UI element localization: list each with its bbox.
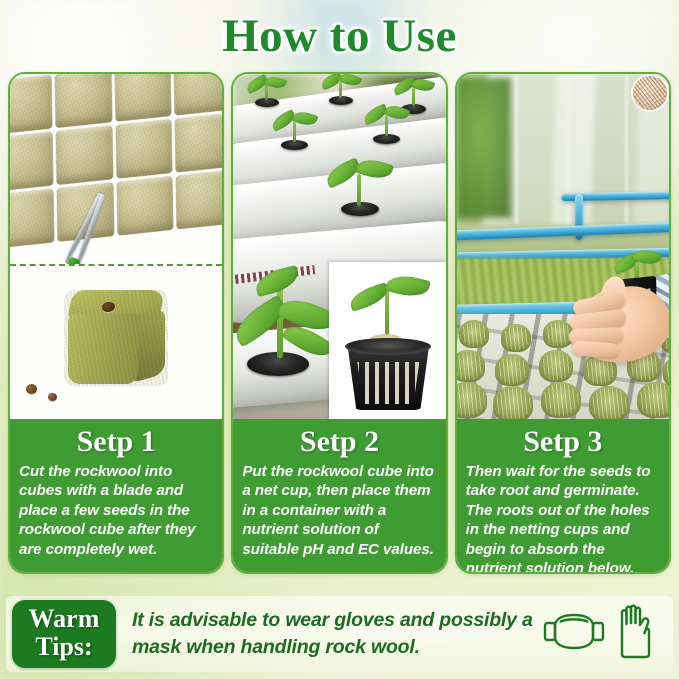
seedling-stem: [293, 122, 296, 142]
step-2-body: Put the rockwool cube into a net cup, th…: [242, 462, 436, 559]
rockwool-cube: [174, 74, 223, 116]
rockwool-cube: [114, 74, 172, 122]
step-2-title: Setp 2: [242, 424, 436, 460]
lettuce-seedling: [459, 320, 489, 348]
step-2-photo: [233, 74, 445, 419]
rockwool-cube: [115, 119, 173, 179]
infographic-page: How to Use: [0, 0, 679, 679]
hand-holding-net-cup: [553, 274, 669, 406]
step-1-body: Cut the rockwool into cubes with a blade…: [19, 462, 213, 559]
rockwool-cube: [116, 176, 174, 236]
rockwool-cube: [10, 131, 53, 191]
net-cup-inset-photo: [329, 262, 445, 419]
page-header: How to Use: [0, 8, 679, 66]
lettuce-seedling: [501, 324, 531, 352]
seedling-stem: [385, 116, 388, 136]
seedling-stem: [265, 84, 268, 100]
seedling-stem: [412, 88, 415, 106]
lettuce-seedling: [493, 386, 533, 419]
wet-rockwool-cube: [64, 290, 168, 386]
seedling-stem: [339, 82, 342, 98]
greenhouse-photo: [457, 74, 669, 419]
step-card-2: Setp 2 Put the rockwool cube into a net …: [231, 72, 447, 574]
seedling-stem: [357, 174, 361, 206]
glove-icon: [615, 604, 657, 665]
finger: [571, 340, 619, 358]
hydroponic-pipes-photo: [233, 74, 445, 419]
step-2-panel: Setp 2 Put the rockwool cube into a net …: [233, 419, 445, 572]
rockwool-cube-tray-photo: [10, 74, 222, 264]
lettuce-seedling: [495, 354, 529, 386]
seed: [26, 384, 37, 394]
warm-tips-badge-line-1: Warm: [16, 605, 112, 633]
steps-container: Setp 1 Cut the rockwool into cubes with …: [8, 72, 671, 574]
step-1-panel: Setp 1 Cut the rockwool into cubes with …: [10, 419, 222, 572]
warm-tips-text: It is advisable to wear gloves and possi…: [116, 607, 543, 661]
net-cup-rim: [345, 338, 431, 355]
rockwool-cube: [10, 188, 54, 248]
warm-tips-badge: Warm Tips:: [12, 600, 116, 668]
lettuce-seedling: [457, 350, 485, 382]
rockwool-cube: [54, 74, 112, 128]
lettuce-seedling: [457, 382, 487, 418]
rockwool-cube: [176, 170, 223, 230]
page-title: How to Use: [0, 8, 679, 64]
step-3-title: Setp 3: [466, 424, 660, 460]
step-card-3: Setp 3 Then wait for the seeds to take r…: [455, 72, 671, 574]
rockwool-texture-badge: [633, 76, 667, 110]
rockwool-cube: [175, 113, 223, 173]
rockwool-cube: [10, 75, 52, 135]
step-3-photo: [457, 74, 669, 419]
step-1-title: Setp 1: [19, 424, 213, 460]
rockwool-cube: [55, 125, 113, 185]
step-3-body: Then wait for the seeds to take root and…: [466, 462, 660, 574]
step-1-photo: [10, 74, 222, 419]
blue-pipe: [457, 221, 669, 240]
rockwool-cube-grid: [10, 74, 222, 248]
warm-tips-badge-line-2: Tips:: [16, 633, 112, 661]
step-3-panel: Setp 3 Then wait for the seeds to take r…: [457, 419, 669, 574]
seed: [48, 393, 57, 401]
step-card-1: Setp 1 Cut the rockwool into cubes with …: [8, 72, 224, 574]
seedling-leaf: [386, 271, 432, 301]
warm-tips-bar: Warm Tips: It is advisable to wear glove…: [6, 596, 673, 672]
face-mask-icon: [543, 609, 605, 660]
warm-tips-icons: [543, 604, 663, 665]
wet-rockwool-cube-photo: [10, 266, 222, 419]
